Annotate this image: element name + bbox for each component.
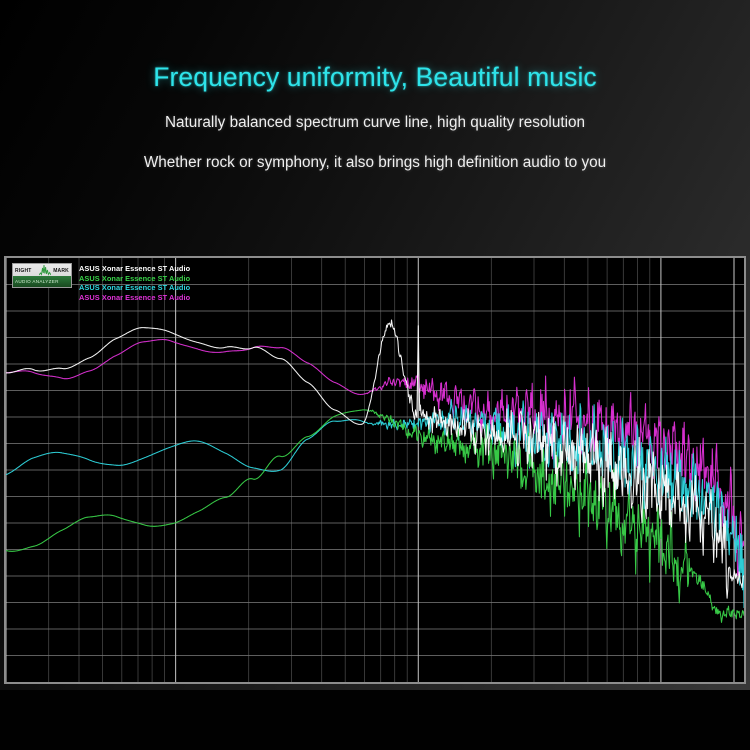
subtitle-line-1: Naturally balanced spectrum curve line, … — [0, 115, 750, 132]
product-banner: Frequency uniformity, Beautiful music Na… — [0, 0, 750, 750]
page-title: Frequency uniformity, Beautiful music — [0, 62, 750, 93]
chart-series-layer — [6, 258, 744, 682]
headline-block: Frequency uniformity, Beautiful music Na… — [0, 62, 750, 172]
spectrum-chart-panel: RIGHT MARK AUDIO ANALYZER ASUS Xonar Ess… — [4, 256, 746, 684]
lower-black-band — [0, 690, 750, 750]
subtitle-line-2: Whether rock or symphony, it also brings… — [0, 155, 750, 172]
spectrum-plot-area: RIGHT MARK AUDIO ANALYZER ASUS Xonar Ess… — [6, 258, 744, 682]
